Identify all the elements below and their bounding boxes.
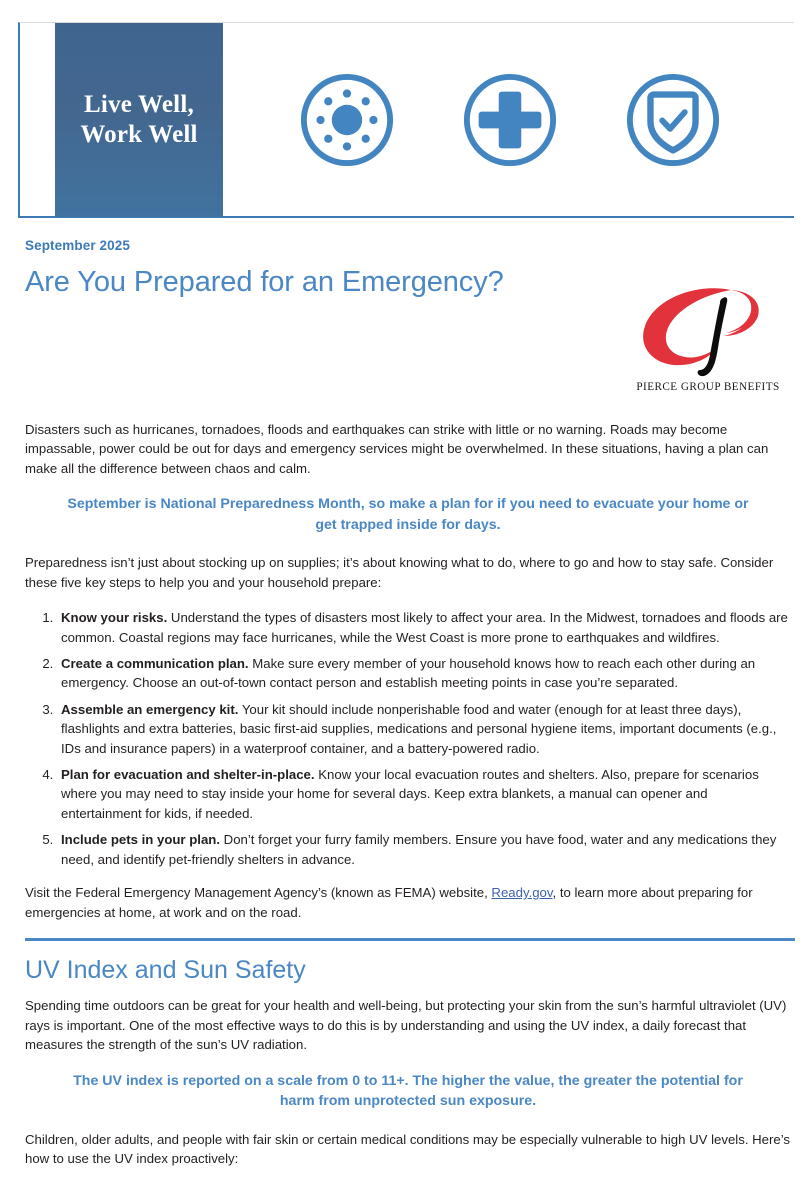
preparedness-steps-list: Know your risks. Understand the types of… <box>25 608 791 869</box>
list-item: Plan for evacuation and shelter-in-place… <box>57 765 791 823</box>
article-body: Disasters such as hurricanes, tornadoes,… <box>25 420 791 1185</box>
preparedness-callout: September is National Preparedness Month… <box>63 494 753 535</box>
pierce-group-benefits-logo: PIERCE GROUP BENEFITS <box>627 282 789 397</box>
logo-mark <box>627 282 789 380</box>
brand-title: Live Well, Work Well <box>80 90 197 151</box>
sun-icon <box>298 71 396 169</box>
medical-cross-icon <box>461 71 559 169</box>
issue-date: September 2025 <box>25 238 789 253</box>
brand-title-line1: Live Well, <box>84 91 194 118</box>
ready-gov-link[interactable]: Ready.gov <box>491 885 552 900</box>
section-title-uv: UV Index and Sun Safety <box>25 957 791 985</box>
uv-intro-paragraph: Spending time outdoors can be great for … <box>25 996 791 1054</box>
lead-in-paragraph: Preparedness isn’t just about stocking u… <box>25 553 791 592</box>
list-item: Assemble an emergency kit. Your kit shou… <box>57 700 791 758</box>
step-term: Create a communication plan. <box>61 656 249 671</box>
fema-text-before: Visit the Federal Emergency Management A… <box>25 885 491 900</box>
uv-callout: The UV index is reported on a scale from… <box>63 1071 753 1112</box>
list-item: Create a communication plan. Make sure e… <box>57 654 791 693</box>
list-item: Include pets in your plan. Don’t forget … <box>57 830 791 869</box>
step-term: Include pets in your plan. <box>61 832 220 847</box>
step-text: Understand the types of disasters most l… <box>61 610 788 644</box>
masthead-banner: Live Well, Work Well <box>18 22 794 218</box>
list-item: Know your risks. Understand the types of… <box>57 608 791 647</box>
logo-caption: PIERCE GROUP BENEFITS <box>627 381 789 393</box>
brand-title-line2: Work Well <box>80 120 197 151</box>
step-term: Know your risks. <box>61 610 167 625</box>
shield-check-icon <box>624 71 722 169</box>
brand-block: Live Well, Work Well <box>55 23 223 217</box>
step-term: Plan for evacuation and shelter-in-place… <box>61 767 315 782</box>
fema-paragraph: Visit the Federal Emergency Management A… <box>25 883 791 922</box>
step-term: Assemble an emergency kit. <box>61 702 238 717</box>
intro-paragraph: Disasters such as hurricanes, tornadoes,… <box>25 420 791 478</box>
masthead-icon-row <box>245 23 794 217</box>
section-divider <box>25 938 795 941</box>
